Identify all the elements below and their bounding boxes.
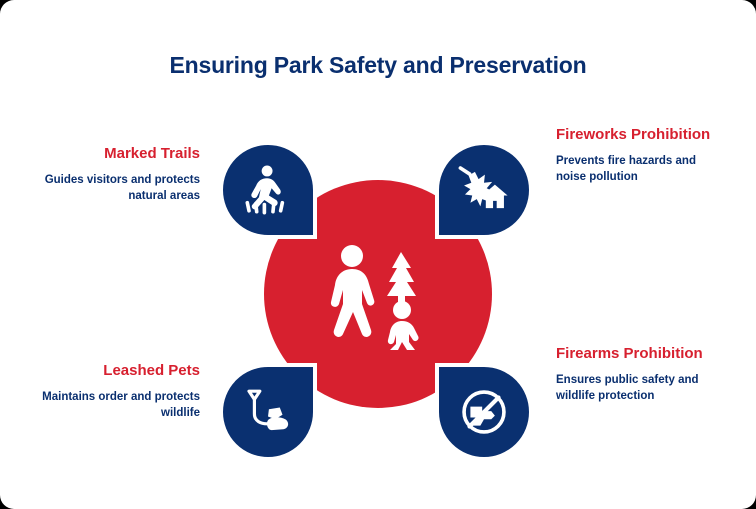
badge-firearms-prohibition[interactable] [435, 363, 533, 461]
no-firearms-icon [455, 383, 513, 441]
hiker-on-trail-icon [239, 161, 297, 219]
item-description: Guides visitors and protects natural are… [32, 172, 200, 204]
item-description: Ensures public safety and wildlife prote… [556, 372, 724, 404]
firework-hitting-house-icon [455, 161, 513, 219]
item-title: Firearms Prohibition [556, 345, 724, 363]
badge-marked-trails[interactable] [219, 141, 317, 239]
item-text-firearms-prohibition: Firearms Prohibition Ensures public safe… [556, 345, 724, 404]
item-description: Prevents fire hazards and noise pollutio… [556, 153, 724, 185]
item-title: Leashed Pets [32, 362, 200, 380]
badge-leashed-pets[interactable] [219, 363, 317, 461]
infographic-canvas: Ensuring Park Safety and Preservation [0, 0, 756, 509]
item-text-leashed-pets: Leashed Pets Maintains order and protect… [32, 362, 200, 421]
badge-fireworks-prohibition[interactable] [435, 141, 533, 239]
item-title: Marked Trails [32, 145, 200, 163]
item-title: Fireworks Prohibition [556, 126, 724, 144]
leashed-dog-icon [239, 383, 297, 441]
item-text-marked-trails: Marked Trails Guides visitors and protec… [32, 145, 200, 204]
item-description: Maintains order and protects wildlife [32, 389, 200, 421]
family-and-tree-icon [322, 238, 434, 350]
item-text-fireworks-prohibition: Fireworks Prohibition Prevents fire haza… [556, 126, 724, 185]
page-title: Ensuring Park Safety and Preservation [0, 52, 756, 79]
